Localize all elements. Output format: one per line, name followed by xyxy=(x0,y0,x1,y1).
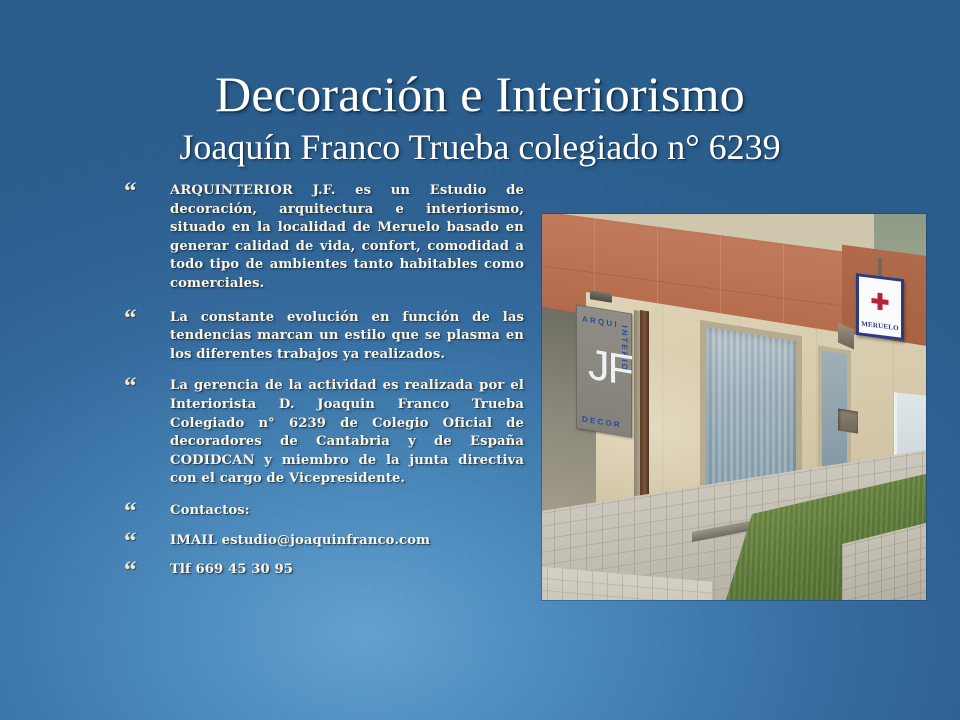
photo-jf-sign: ARQUI INTERIO JF DECOR xyxy=(576,304,632,437)
photo-canvas: ARQUI INTERIO JF DECOR MERUELO xyxy=(542,214,926,600)
sign-label-arqui: ARQUI xyxy=(582,314,619,329)
quote-bullet-icon: “ xyxy=(124,182,148,201)
storefront-photo: ARQUI INTERIO JF DECOR MERUELO xyxy=(542,214,926,600)
list-item: “ ARQUINTERIOR J.F. es un Estudio de dec… xyxy=(124,182,524,294)
list-item: “ La gerencia de la actividad es realiza… xyxy=(124,377,524,489)
email-text[interactable]: IMAIL estudio@joaquinfranco.com xyxy=(170,532,524,551)
presentation-slide: Decoración e Interiorismo Joaquín Franco… xyxy=(0,0,960,720)
sign-monogram-jf: JF xyxy=(588,343,632,393)
pharmacy-cross-icon xyxy=(872,292,889,311)
pharmacy-sign-label: MERUELO xyxy=(859,319,901,332)
list-item-email: “ IMAIL estudio@joaquinfranco.com xyxy=(124,532,524,551)
list-item-text: La constante evolución en función de las… xyxy=(170,309,524,365)
list-item-text: La gerencia de la actividad es realizada… xyxy=(170,377,524,489)
page-title: Decoración e Interiorismo xyxy=(0,66,960,122)
bullet-list: “ ARQUINTERIOR J.F. es un Estudio de dec… xyxy=(124,182,524,589)
quote-bullet-icon: “ xyxy=(124,561,148,580)
quote-bullet-icon: “ xyxy=(124,377,148,396)
list-item-text: ARQUINTERIOR J.F. es un Estudio de decor… xyxy=(170,182,524,294)
quote-bullet-icon: “ xyxy=(124,532,148,551)
page-subtitle: Joaquín Franco Trueba colegiado n° 6239 xyxy=(0,126,960,168)
quote-bullet-icon: “ xyxy=(124,502,148,521)
contacts-heading: Contactos: xyxy=(170,502,524,521)
photo-wall-niche xyxy=(838,408,858,433)
list-item-contacts: “ Contactos: xyxy=(124,502,524,521)
list-item: “ La constante evolución en función de l… xyxy=(124,309,524,365)
sign-label-decor: DECOR xyxy=(582,414,622,430)
title-block: Decoración e Interiorismo Joaquín Franco… xyxy=(0,66,960,168)
photo-pharmacy-sign: MERUELO xyxy=(856,273,904,341)
phone-text: Tlf 669 45 30 95 xyxy=(170,561,524,580)
list-item-phone: “ Tlf 669 45 30 95 xyxy=(124,561,524,580)
quote-bullet-icon: “ xyxy=(124,309,148,328)
